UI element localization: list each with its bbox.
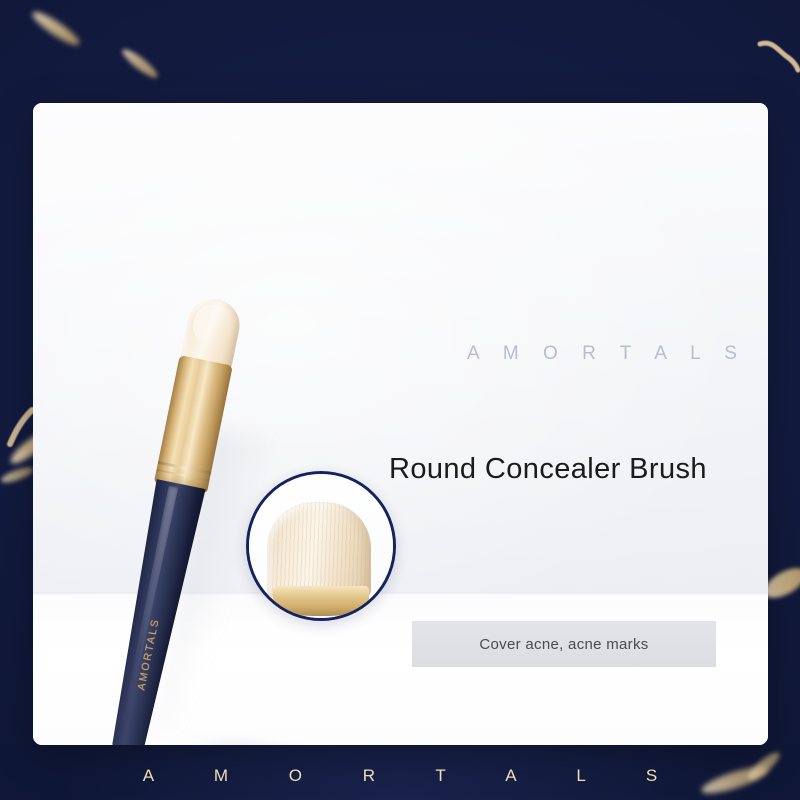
gold-ribbon-icon — [756, 34, 800, 80]
brush-handle-body — [97, 479, 206, 745]
footer-brand-strip: A M O R T A L S — [0, 752, 800, 800]
product-card: AMORTALS A M O R T A L S Round Concealer… — [33, 103, 768, 745]
tagline-text: Cover acne, acne marks — [479, 636, 648, 653]
brand-watermark: A M O R T A L S — [467, 343, 746, 365]
product-banner: AMORTALS A M O R T A L S Round Concealer… — [0, 0, 800, 800]
page-title: Round Concealer Brush — [389, 453, 707, 486]
brush-ferrule — [154, 355, 233, 493]
footer-brand-text: A M O R T A L S — [115, 766, 686, 786]
inset-bristles — [267, 502, 371, 598]
inset-ferrule — [273, 586, 369, 616]
brush-head-detail-inset — [246, 471, 396, 621]
brush-handle: AMORTALS — [97, 479, 206, 745]
tagline-box: Cover acne, acne marks — [412, 621, 716, 667]
